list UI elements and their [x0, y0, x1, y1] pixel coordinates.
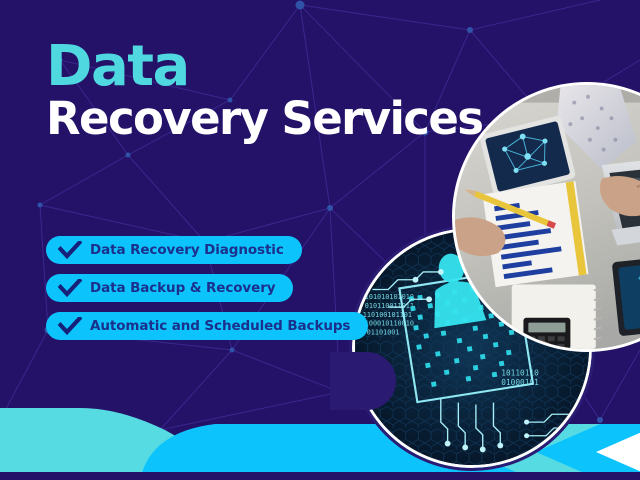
svg-text:101010101010: 101010101010	[365, 293, 414, 301]
feature-item-backup-recovery[interactable]: Data Backup & Recovery	[46, 274, 293, 302]
page-title: Data Recovery Services	[46, 40, 482, 142]
circle-notch	[330, 352, 396, 410]
svg-text:10110110: 10110110	[501, 368, 539, 377]
svg-text:010110011011: 010110011011	[365, 302, 414, 310]
feature-label: Data Backup & Recovery	[90, 280, 275, 296]
feature-list: Data Recovery Diagnostic Data Backup & R…	[46, 236, 368, 350]
feature-item-scheduled-backups[interactable]: Automatic and Scheduled Backups	[46, 312, 368, 340]
feature-label: Data Recovery Diagnostic	[90, 242, 284, 258]
check-icon	[58, 279, 82, 297]
title-line-recovery-services: Recovery Services	[46, 96, 482, 142]
title-line-data: Data	[46, 40, 482, 94]
feature-item-diagnostic[interactable]: Data Recovery Diagnostic	[46, 236, 302, 264]
banner-canvas: Data Recovery Services Data Recovery Dia…	[0, 0, 640, 480]
feature-label: Automatic and Scheduled Backups	[90, 318, 350, 334]
svg-text:100010110010: 100010110010	[365, 320, 414, 328]
svg-text:01101001: 01101001	[367, 328, 400, 336]
check-icon	[58, 317, 82, 335]
bottom-strip	[0, 472, 640, 480]
check-icon	[58, 241, 82, 259]
